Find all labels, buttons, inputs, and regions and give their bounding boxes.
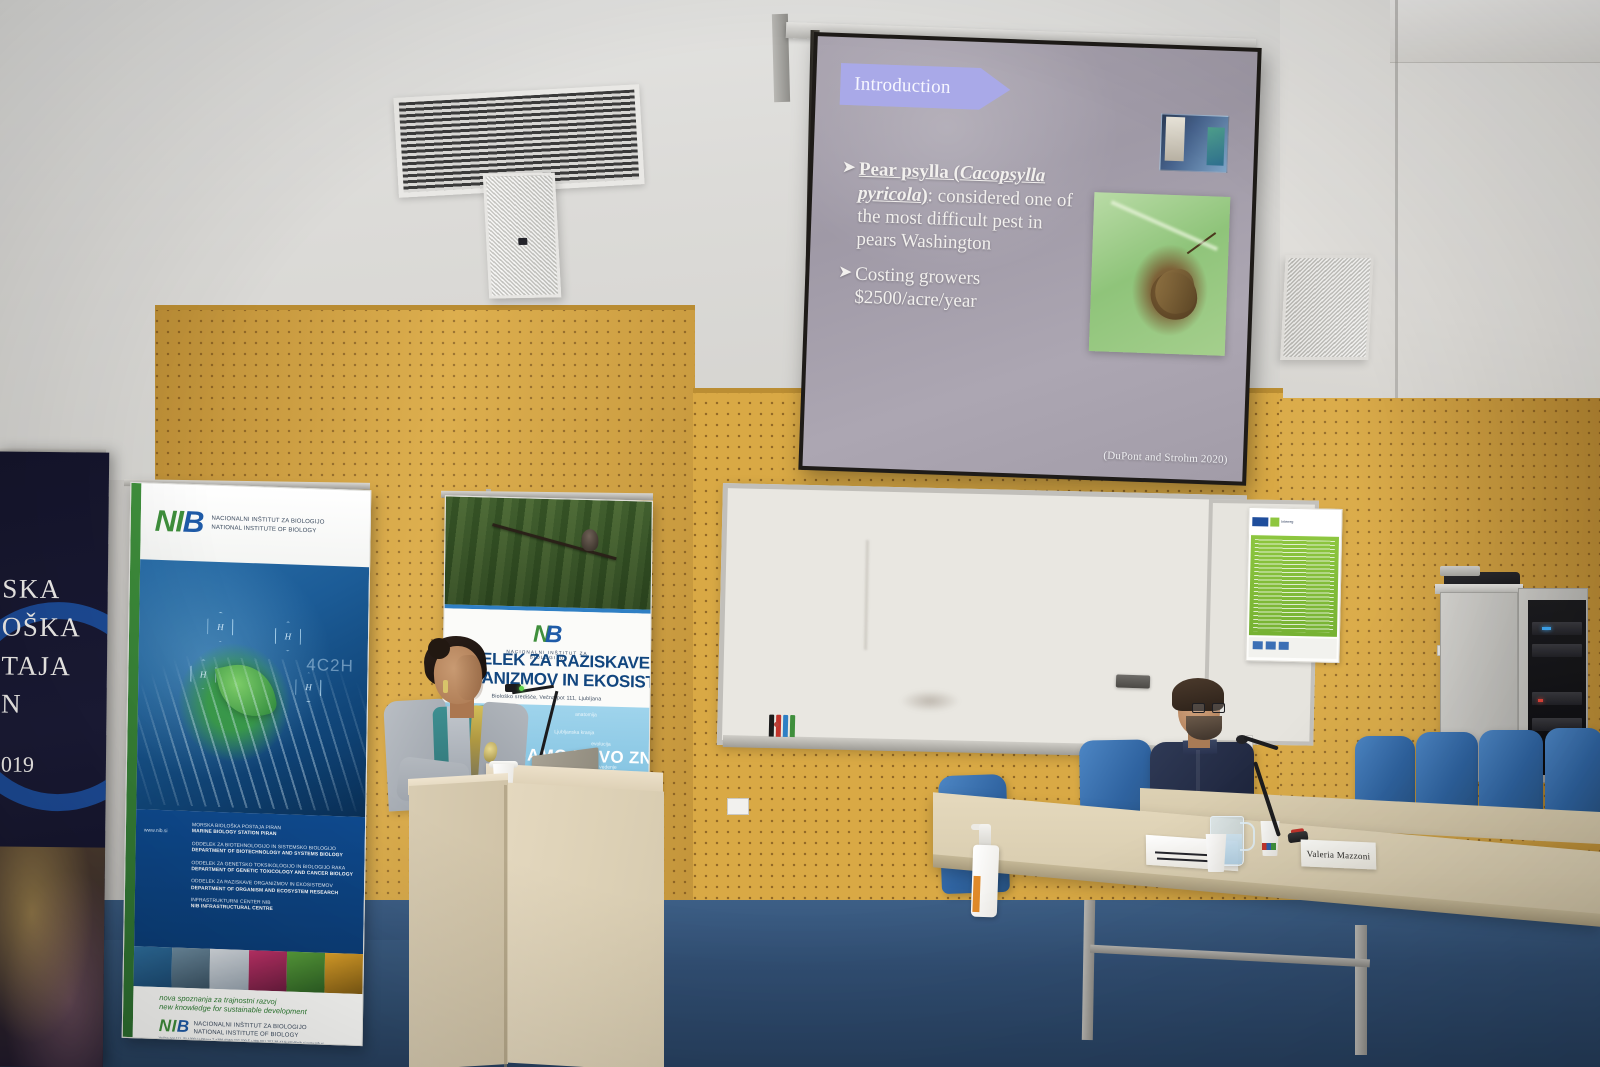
slide-bullet-2-text: Costing growers $2500/acre/year — [854, 263, 1085, 318]
marker-green[interactable] — [790, 715, 795, 737]
jbl-logo-icon — [518, 238, 527, 245]
department-item: ODDELEK ZA RAZISKAVE ORGANIZMOV IN EKOSI… — [191, 879, 356, 898]
rack-led-red-icon — [1538, 699, 1543, 702]
conference-room-photo: Introduction ➤ Pear psylla (Cacopsylla p… — [0, 0, 1600, 1067]
dark-banner-line-4: …N — [0, 684, 109, 724]
wall-speaker-right — [1280, 255, 1374, 360]
pitcher-handle — [1240, 822, 1255, 851]
photo-cell-coast — [133, 946, 172, 987]
wall-speaker — [483, 172, 562, 298]
department-item: ODDELEK ZA GENETSKO TOKSIKOLOGIJO IN BIO… — [191, 861, 356, 880]
photo-cell-leaf — [286, 951, 325, 992]
name-plate-text: Valeria Mazzoni — [1307, 848, 1371, 861]
photo-cell-bird — [172, 947, 211, 988]
speaker-hair-bun — [428, 638, 450, 659]
whiteboard-red-mark — [774, 722, 779, 727]
cloud-word: Ljubljanska kranja — [554, 729, 594, 736]
dark-event-banner: …SKA …OŠKA …TAJA …N 2019 — [0, 451, 109, 1067]
projection-screen: Introduction ➤ Pear psylla (Cacopsylla p… — [798, 32, 1261, 486]
forest-photo — [445, 496, 652, 609]
cloud-word: anatomija — [575, 712, 597, 719]
bullet-arrow-icon-2: ➤ — [837, 262, 853, 309]
speaker-earring — [443, 680, 448, 693]
department-item: MORSKA BIOLOŠKA POSTAJA PIRAN MARINE BIO… — [192, 823, 357, 842]
pear-psylla-photo — [1088, 192, 1230, 356]
dark-banner-line-3: …TAJA — [0, 646, 109, 686]
glasses-lens-left — [1192, 703, 1205, 713]
department-item: ODDELEK ZA BIOTEHNOLOGIJO IN SISTEMSKO B… — [192, 842, 357, 861]
photo-cell-lab — [210, 949, 249, 990]
partner-logo-3 — [1279, 642, 1289, 650]
interreg-logo-icon — [1252, 517, 1268, 526]
dark-banner-line-1: …SKA — [0, 569, 109, 609]
slide-section-label: Introduction — [854, 73, 951, 98]
poster-body — [1249, 535, 1339, 637]
nib-banner-header: NIB NACIONALNI INŠTITUT ZA BIOLOGIJO NAT… — [140, 483, 370, 567]
equipment-shelf — [1440, 566, 1480, 576]
speaker-grille-right — [1283, 258, 1370, 357]
glasses-icon — [1192, 703, 1225, 713]
nib-logo: NIB — [155, 505, 204, 541]
whiteboard-eraser[interactable] — [1116, 674, 1150, 688]
podium-corner-seam — [504, 785, 507, 1067]
interreg-poster: Interreg — [1245, 507, 1342, 663]
panelist-beard — [1186, 716, 1222, 740]
mic-status-led-icon — [519, 686, 524, 691]
rack-unit-1 — [1532, 622, 1582, 635]
nib-banner-footer: nova spoznanja za trajnostni razvoj new … — [133, 986, 363, 1045]
owl-icon — [581, 529, 598, 551]
dark-banner-year: 2019 — [0, 751, 34, 777]
formula-watermark: 4C2H — [306, 655, 354, 677]
poster-program-name: Interreg — [1281, 520, 1293, 525]
dark-banner-photo — [0, 846, 105, 1067]
bullet-1-lead: Pear psylla ( — [859, 159, 961, 184]
nib-logo-subtitle: NACIONALNI INŠTITUT ZA BIOLOGIJO NATIONA… — [211, 515, 324, 536]
nib-rollup-banner: NIB NACIONALNI INŠTITUT ZA BIOLOGIJO NAT… — [122, 482, 372, 1046]
dark-banner-line-2: …OŠKA — [0, 608, 109, 648]
name-plate: Valeria Mazzoni — [1301, 839, 1377, 869]
slide-bullet-1: ➤ Pear psylla (Cacopsylla pyricola): con… — [839, 157, 1089, 258]
bullet-arrow-icon: ➤ — [839, 157, 857, 250]
podium-front-panel — [505, 782, 664, 1067]
rack-unit-2 — [1532, 644, 1582, 657]
wall-outlet-left[interactable] — [727, 798, 749, 815]
sanitizer-label — [972, 876, 980, 912]
poster-footer — [1248, 637, 1336, 659]
nib-banner-image: H H H H 4C2H — [136, 559, 369, 817]
cup-logo-icon — [1262, 843, 1276, 850]
slide-citation: (DuPont and Strohm 2020) — [1103, 450, 1228, 466]
poster-partner-logos — [1253, 641, 1289, 650]
screen-surface: Introduction ➤ Pear psylla (Cacopsylla p… — [802, 36, 1257, 481]
table-leg-right — [1355, 925, 1367, 1055]
department-item: INFRASTRUKTURNI CENTER NIB NIB INFRASTRU… — [191, 898, 356, 917]
nib-website-url: www.nib.si — [144, 827, 168, 834]
eu-flag-icon — [1270, 517, 1279, 526]
poster-header: Interreg — [1249, 508, 1342, 536]
slide-bullet-2: ➤ Costing growers $2500/acre/year — [837, 262, 1085, 317]
nib-department-list: www.nib.si MORSKA BIOLOŠKA POSTAJA PIRAN… — [134, 809, 365, 954]
dark-banner-text: …SKA …OŠKA …TAJA …N — [0, 569, 109, 724]
hexagon-h-1: H — [207, 611, 233, 642]
partner-logo-2 — [1266, 641, 1276, 649]
partner-logo-1 — [1253, 641, 1263, 649]
speaker-grille — [486, 176, 558, 296]
video-call-thumbnail — [1159, 113, 1229, 173]
poster-text-lines — [1253, 539, 1335, 633]
speaker-face-shading — [453, 654, 484, 701]
sanitizer-pump[interactable] — [979, 824, 991, 847]
photo-cell-cells — [248, 950, 287, 991]
slide-bullet-1-text: Pear psylla (Cacopsylla pyricola): consi… — [856, 158, 1088, 259]
slide-body: ➤ Pear psylla (Cacopsylla pyricola): con… — [836, 157, 1088, 329]
dna-helix-graphic — [136, 654, 367, 812]
psylla-wing — [1151, 266, 1199, 316]
marker-blue[interactable] — [783, 715, 788, 737]
cloud-word: evolucija — [591, 741, 611, 748]
photo-cell-flower — [324, 953, 363, 994]
hexagon-h-2: H — [275, 621, 301, 652]
podium-side-panel — [409, 780, 508, 1067]
cork-wall-left-edge — [155, 305, 695, 310]
glasses-lens-right — [1212, 703, 1225, 713]
psylla-insect-icon — [1147, 268, 1201, 323]
whiteboard-smudge — [900, 690, 960, 712]
ceiling-band — [1390, 0, 1600, 63]
psylla-antenna — [1187, 232, 1217, 254]
rack-led-blue-icon — [1542, 627, 1551, 630]
